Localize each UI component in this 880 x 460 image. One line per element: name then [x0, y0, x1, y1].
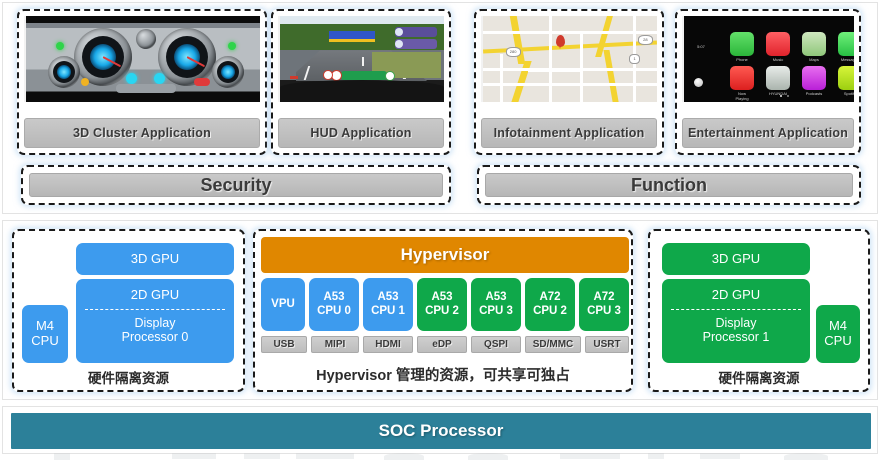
soc-processor-bar[interactable]: SOC Processor [11, 413, 871, 449]
applications-panel: 3D Cluster Application [2, 2, 878, 214]
peripheral-usrt[interactable]: USRT [585, 336, 629, 353]
core-block-vpu[interactable]: VPU [261, 278, 305, 331]
right-block-divider [671, 309, 801, 310]
core-vpu-line1: VPU [271, 298, 295, 310]
left-display-line2: Processor 0 [122, 330, 189, 344]
hypervisor-label: Hypervisor [401, 245, 490, 265]
core-a53-0-line1: A53 [323, 291, 344, 303]
carplay-app-label: Music [767, 57, 789, 62]
right-3d-gpu-block[interactable]: 3D GPU [662, 243, 810, 275]
map-image: 280 28 1 [481, 16, 657, 102]
carplay-image: 5:07 Phone Music Maps Messages [682, 16, 854, 102]
app-card-infotainment[interactable]: 280 28 1 Infotainment Application [474, 9, 664, 155]
app-card-cluster[interactable]: 3D Cluster Application [17, 9, 267, 155]
left-m4-line1: M4 [36, 318, 54, 333]
carplay-app-label: HYUNDAI [767, 91, 789, 96]
left-m4-cpu-block[interactable]: M4 CPU [22, 305, 68, 363]
core-a53-2-line2: CPU 2 [425, 305, 459, 318]
right-m4-line1: M4 [829, 318, 847, 333]
right-display-line2: Processor 1 [703, 330, 770, 344]
core-block-a53-cpu2[interactable]: A53 CPU 2 [417, 278, 467, 331]
right-2d-gpu-label: 2D GPU [662, 284, 810, 306]
core-a72-3-line2: CPU 3 [587, 305, 621, 318]
app-label-hud: HUD Application [278, 118, 444, 148]
core-block-a53-cpu1[interactable]: A53 CPU 1 [363, 278, 413, 331]
core-block-a72-cpu2[interactable]: A72 CPU 2 [525, 278, 575, 331]
left-m4-line2: CPU [31, 334, 58, 349]
right-isolated-resources-group[interactable]: 3D GPU 2D GPU Display Processor 1 M4 CPU… [648, 229, 870, 392]
function-group[interactable]: Function [477, 165, 861, 205]
right-display-line1: Display [715, 316, 756, 330]
app-label-entertainment: Entertainment Application [682, 118, 854, 148]
right-m4-line2: CPU [824, 334, 851, 349]
left-group-caption: 硬件隔离资源 [14, 367, 243, 387]
carplay-app-label: Maps [803, 57, 825, 62]
architecture-diagram: 3D Cluster Application [0, 0, 880, 460]
hypervisor-bar[interactable]: Hypervisor [261, 237, 629, 273]
app-card-hud[interactable]: HUD Application [271, 9, 451, 155]
app-card-entertainment[interactable]: 5:07 Phone Music Maps Messages [675, 9, 861, 155]
core-block-a53-cpu0[interactable]: A53 CPU 0 [309, 278, 359, 331]
core-a53-1-line1: A53 [377, 291, 398, 303]
core-block-a72-cpu3[interactable]: A72 CPU 3 [579, 278, 629, 331]
left-display-line1: Display [134, 316, 175, 330]
app-label-cluster: 3D Cluster Application [24, 118, 260, 148]
left-3d-gpu-block[interactable]: 3D GPU [76, 243, 234, 275]
hud-image [278, 16, 444, 102]
core-a53-0-line2: CPU 0 [317, 305, 351, 318]
carplay-app-label: Phone [731, 57, 753, 62]
peripheral-hdmi[interactable]: HDMI [363, 336, 413, 353]
left-3d-gpu-label: 3D GPU [131, 252, 179, 267]
hypervisor-group[interactable]: Hypervisor VPU A53 CPU 0 A53 CPU 1 [253, 229, 633, 392]
core-a53-3-line1: A53 [485, 291, 506, 303]
soc-processor-label: SOC Processor [379, 421, 504, 441]
function-label: Function [485, 173, 853, 197]
right-3d-gpu-label: 3D GPU [712, 252, 760, 267]
soc-panel: SOC Processor [2, 406, 878, 454]
core-a72-2-line2: CPU 2 [533, 305, 567, 318]
peripheral-mipi[interactable]: MIPI [311, 336, 359, 353]
app-label-infotainment: Infotainment Application [481, 118, 657, 148]
carplay-app-label: Podcasts [803, 91, 825, 96]
carplay-app-label: Now Playing [731, 91, 753, 101]
core-a72-2-line1: A72 [539, 291, 560, 303]
hardware-panel: M4 CPU 3D GPU 2D GPU Display Processor 0… [2, 220, 878, 400]
carplay-clock: 5:07 [690, 44, 712, 50]
right-m4-cpu-block[interactable]: M4 CPU [816, 305, 860, 363]
security-label: Security [29, 173, 443, 197]
right-2d-gpu-display-block[interactable]: 2D GPU Display Processor 1 [662, 279, 810, 363]
core-a72-3-line1: A72 [593, 291, 614, 303]
peripheral-usb[interactable]: USB [261, 336, 307, 353]
carplay-app-label: Messages [839, 57, 854, 62]
core-a53-1-line2: CPU 1 [371, 305, 405, 318]
security-group[interactable]: Security [21, 165, 451, 205]
right-group-caption: 硬件隔离资源 [650, 367, 868, 387]
peripheral-sdmmc[interactable]: SD/MMC [525, 336, 581, 353]
left-2d-gpu-display-block[interactable]: 2D GPU Display Processor 0 [76, 279, 234, 363]
peripheral-qspi[interactable]: QSPI [471, 336, 521, 353]
left-isolated-resources-group[interactable]: M4 CPU 3D GPU 2D GPU Display Processor 0… [12, 229, 245, 392]
peripheral-edp[interactable]: eDP [417, 336, 467, 353]
hypervisor-group-caption: Hypervisor 管理的资源，可共享可独占 [255, 364, 631, 385]
core-a53-2-line1: A53 [431, 291, 452, 303]
carplay-app-label: Spotify [839, 91, 854, 96]
cluster-image [24, 16, 260, 102]
core-a53-3-line2: CPU 3 [479, 305, 513, 318]
core-block-a53-cpu3[interactable]: A53 CPU 3 [471, 278, 521, 331]
left-2d-gpu-label: 2D GPU [76, 284, 234, 306]
left-block-divider [85, 309, 224, 310]
background-watermark [0, 452, 880, 460]
